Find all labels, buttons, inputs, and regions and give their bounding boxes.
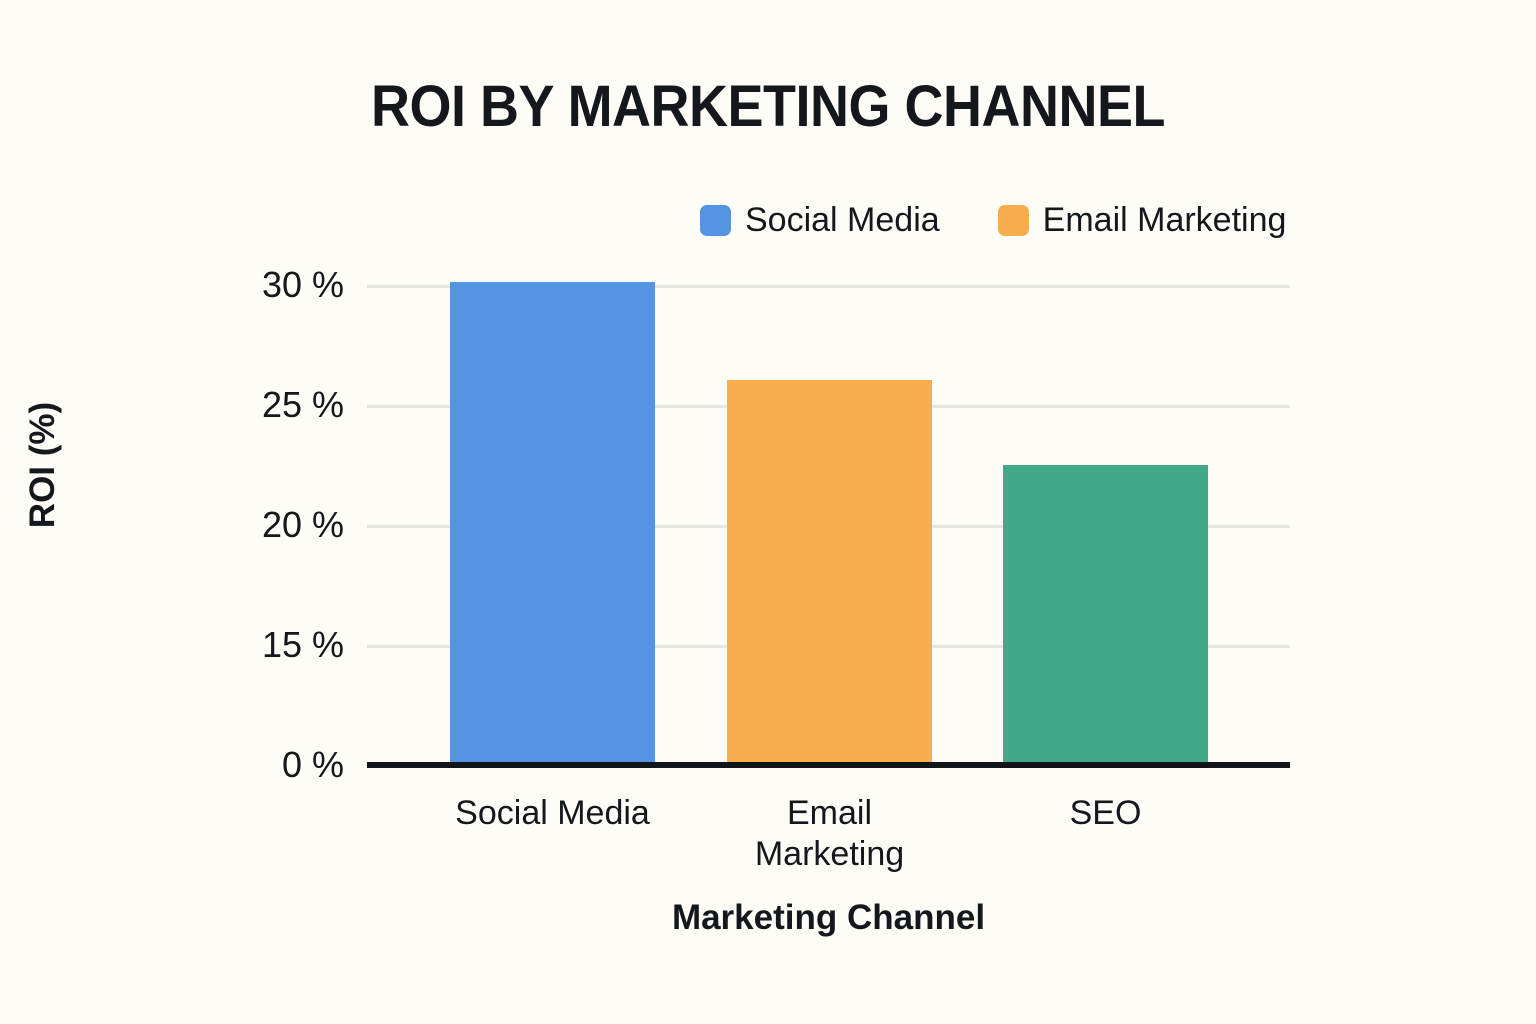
legend-label-social-media: Social Media — [745, 203, 940, 237]
chart-legend: Social Media Email Marketing — [700, 203, 1286, 237]
y-tick-label-20: 20 % — [144, 507, 344, 543]
legend-swatch-social-media — [700, 205, 731, 236]
plot-area — [367, 285, 1290, 765]
legend-item-social-media[interactable]: Social Media — [700, 203, 940, 237]
legend-label-email-marketing: Email Marketing — [1043, 203, 1287, 237]
y-tick-label-0: 0 % — [144, 747, 344, 783]
y-tick-label-30: 30 % — [144, 267, 344, 303]
bar-social-media[interactable] — [450, 282, 655, 762]
y-tick-label-25: 25 % — [144, 387, 344, 423]
y-tick-label-15: 15 % — [144, 627, 344, 663]
x-axis-baseline — [367, 762, 1290, 768]
bar-seo[interactable] — [1003, 465, 1208, 762]
y-axis-title: ROI (%) — [25, 255, 60, 675]
bar-chart-figure: ROI BY MARKETING CHANNEL Social Media Em… — [0, 0, 1536, 1024]
legend-item-email-marketing[interactable]: Email Marketing — [998, 203, 1287, 237]
chart-title: ROI BY MARKETING CHANNEL — [54, 78, 1482, 136]
x-tick-label-seo: SEO — [1003, 793, 1208, 834]
x-tick-label-social-media: Social Media — [430, 793, 675, 834]
x-tick-label-email-marketing: Email Marketing — [727, 793, 932, 875]
bar-email-marketing[interactable] — [727, 380, 932, 762]
legend-swatch-email-marketing — [998, 205, 1029, 236]
x-axis-title: Marketing Channel — [367, 900, 1290, 935]
